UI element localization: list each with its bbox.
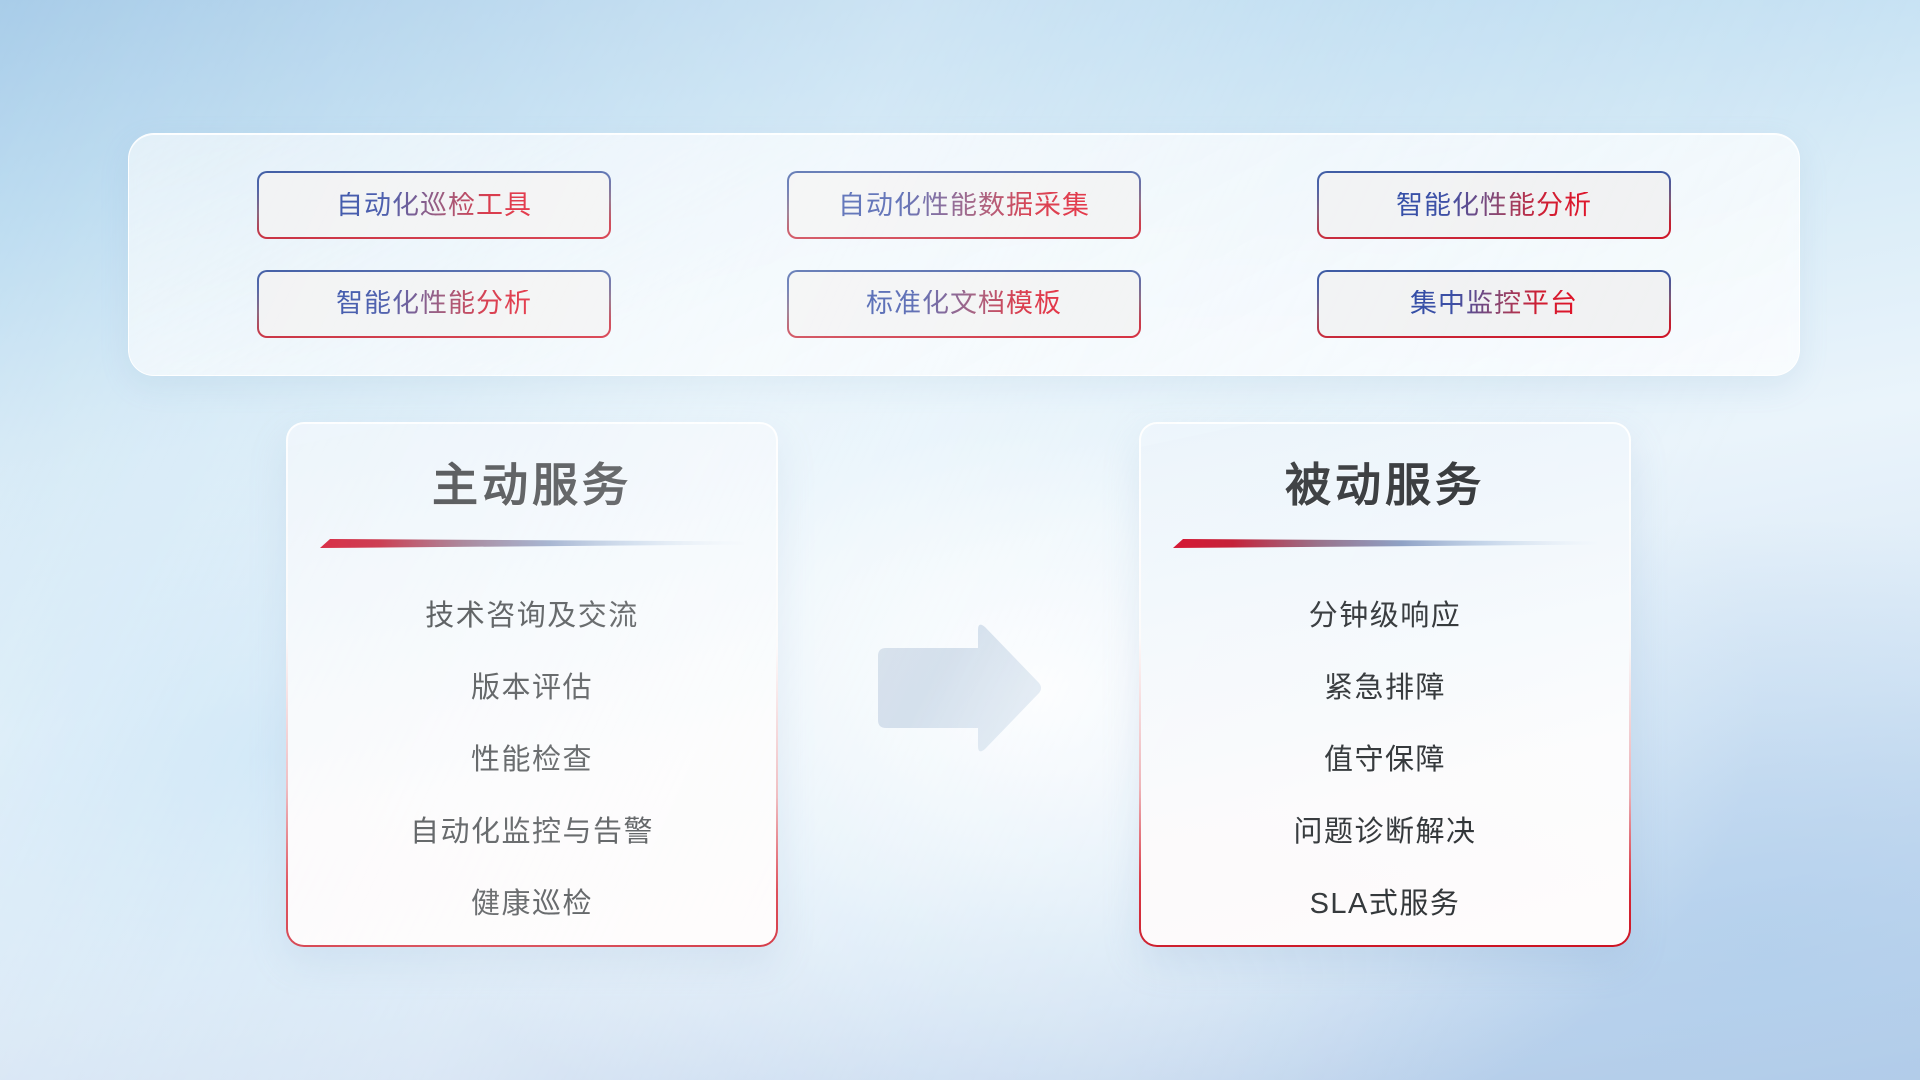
capability-chip-3[interactable]: 智能化性能分析 bbox=[1317, 171, 1671, 239]
list-item: 值守保障 bbox=[1324, 725, 1446, 797]
service-card-proactive-title: 主动服务 bbox=[432, 460, 632, 511]
capability-chip-4-label: 智能化性能分析 bbox=[336, 290, 532, 317]
service-card-reactive-body: 被动服务 bbox=[1141, 424, 1629, 945]
service-card-proactive[interactable]: 主动服务 bbox=[286, 422, 778, 947]
title-divider-left bbox=[320, 537, 744, 551]
service-card-proactive-body: 主动服务 bbox=[288, 424, 776, 945]
service-card-reactive-title: 被动服务 bbox=[1285, 460, 1485, 511]
flow-arrow-right-icon bbox=[872, 620, 1044, 752]
capability-chip-6-label: 集中监控平台 bbox=[1410, 290, 1578, 317]
capability-chip-1-body: 自动化巡检工具 bbox=[259, 173, 609, 237]
capability-chip-5-body: 标准化文档模板 bbox=[789, 272, 1139, 336]
list-item: 分钟级响应 bbox=[1309, 581, 1462, 653]
list-item: 技术咨询及交流 bbox=[425, 581, 639, 653]
capability-chip-6[interactable]: 集中监控平台 bbox=[1317, 270, 1671, 338]
slide-canvas: 自动化巡检工具 自动化性能数据采集 智能化性能分析 智能化性能分析 bbox=[0, 0, 1920, 1080]
list-item: 健康巡检 bbox=[471, 869, 593, 941]
title-divider-right bbox=[1173, 537, 1597, 551]
capability-chip-5[interactable]: 标准化文档模板 bbox=[787, 270, 1141, 338]
capability-chip-3-body: 智能化性能分析 bbox=[1319, 173, 1669, 237]
capability-chip-6-body: 集中监控平台 bbox=[1319, 272, 1669, 336]
service-card-proactive-list: 技术咨询及交流 版本评估 性能检查 自动化监控与告警 健康巡检 bbox=[288, 581, 776, 941]
capability-chip-4-body: 智能化性能分析 bbox=[259, 272, 609, 336]
list-item: 问题诊断解决 bbox=[1293, 797, 1476, 869]
capability-chip-2[interactable]: 自动化性能数据采集 bbox=[787, 171, 1141, 239]
capability-chip-2-label: 自动化性能数据采集 bbox=[838, 192, 1090, 219]
list-item: 紧急排障 bbox=[1324, 653, 1446, 725]
capability-chip-1[interactable]: 自动化巡检工具 bbox=[257, 171, 611, 239]
capability-chip-1-label: 自动化巡检工具 bbox=[336, 192, 532, 219]
capability-chip-4[interactable]: 智能化性能分析 bbox=[257, 270, 611, 338]
capability-chip-2-body: 自动化性能数据采集 bbox=[789, 173, 1139, 237]
service-card-reactive[interactable]: 被动服务 bbox=[1139, 422, 1631, 947]
capabilities-grid: 自动化巡检工具 自动化性能数据采集 智能化性能分析 智能化性能分析 bbox=[129, 134, 1799, 375]
service-card-reactive-list: 分钟级响应 紧急排障 值守保障 问题诊断解决 SLA式服务 bbox=[1141, 581, 1629, 941]
list-item: 自动化监控与告警 bbox=[410, 797, 654, 869]
capabilities-panel: 自动化巡检工具 自动化性能数据采集 智能化性能分析 智能化性能分析 bbox=[128, 133, 1800, 376]
list-item: 性能检查 bbox=[471, 725, 593, 797]
capability-chip-5-label: 标准化文档模板 bbox=[866, 290, 1062, 317]
capability-chip-3-label: 智能化性能分析 bbox=[1396, 192, 1592, 219]
list-item: SLA式服务 bbox=[1310, 869, 1461, 941]
list-item: 版本评估 bbox=[471, 653, 593, 725]
